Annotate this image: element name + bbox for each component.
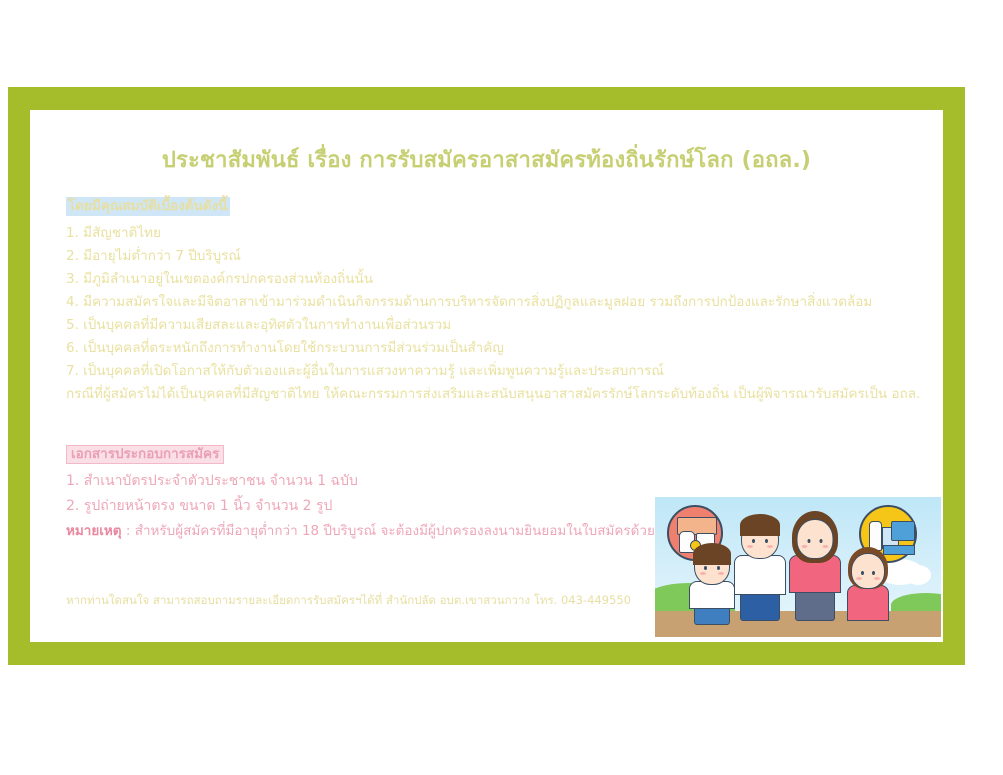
- head-shape: [797, 519, 834, 559]
- poster-green-frame: ประชาสัมพันธ์ เรื่อง การรับสมัครอาสาสมัค…: [8, 87, 965, 665]
- family-recycling-illustration: [655, 497, 941, 637]
- head-shape: [851, 553, 885, 589]
- eye-shape: [752, 539, 755, 543]
- note-label: หมายเหตุ: [66, 523, 122, 539]
- cheek-shape: [823, 545, 829, 548]
- eye-shape: [704, 566, 707, 570]
- cloud-icon: [905, 565, 931, 585]
- cheek-shape: [856, 577, 862, 580]
- documents-heading: เอกสารประกอบการสมัคร: [66, 445, 224, 464]
- hair-shape: [693, 543, 731, 565]
- eye-shape: [717, 566, 720, 570]
- page-title: ประชาสัมพันธ์ เรื่อง การรับสมัครอาสาสมัค…: [30, 142, 943, 177]
- qualifications-list: 1. มีสัญชาติไทย 2. มีอายุไม่ต่ำกว่า 7 ปี…: [66, 222, 923, 383]
- legs-shape: [795, 589, 835, 621]
- hair-shape: [740, 514, 780, 536]
- person-mother: [783, 507, 847, 619]
- legs-shape: [740, 591, 780, 621]
- list-item: 6. เป็นบุคคลที่ตระหนักถึงการทำงานโดยใช้ก…: [66, 337, 923, 360]
- list-item: 7. เป็นบุคคลที่เปิดโอกาสให้กับตัวเองและผ…: [66, 360, 923, 383]
- qualifications-heading: โดยมีคุณสมบัติเบื้องต้นดังนี้: [66, 197, 230, 216]
- cheek-shape: [874, 577, 880, 580]
- qualifications-section: โดยมีคุณสมบัติเบื้องต้นดังนี้ 1. มีสัญชา…: [66, 195, 923, 406]
- shirt-shape: [847, 585, 889, 621]
- poster-white-sheet: ประชาสัมพันธ์ เรื่อง การรับสมัครอาสาสมัค…: [30, 110, 943, 642]
- eye-shape: [872, 571, 875, 575]
- cheek-shape: [700, 572, 706, 575]
- list-item: 1. สำเนาบัตรประจำตัวประชาชน จำนวน 1 ฉบับ: [66, 469, 923, 494]
- cheek-shape: [718, 572, 724, 575]
- person-father: [729, 509, 791, 619]
- note-text: : สำหรับผู้สมัครที่มีอายุต่ำกว่า 18 ปีบร…: [122, 523, 655, 539]
- eye-shape: [765, 539, 768, 543]
- eye-shape: [808, 539, 811, 543]
- cheek-shape: [767, 545, 773, 548]
- list-item: 5. เป็นบุคคลที่มีความเสียสละและอุทิศตัวใ…: [66, 314, 923, 337]
- cheek-shape: [747, 545, 753, 548]
- list-item: 1. มีสัญชาติไทย: [66, 222, 923, 245]
- box-icon: [891, 521, 915, 541]
- poster-content: โดยมีคุณสมบัติเบื้องต้นดังนี้ 1. มีสัญชา…: [66, 195, 923, 544]
- cheek-shape: [802, 545, 808, 548]
- eye-shape: [820, 539, 823, 543]
- exception-paragraph: กรณีที่ผู้สมัครไม่ได้เป็นบุคคลที่มีสัญชา…: [66, 383, 923, 406]
- contact-line: หากท่านใดสนใจ สามารถสอบถามรายละเอียดการร…: [66, 592, 631, 610]
- person-girl: [841, 539, 895, 619]
- list-item: 2. มีอายุไม่ต่ำกว่า 7 ปีบริบูรณ์: [66, 245, 923, 268]
- eye-shape: [861, 571, 864, 575]
- list-item: 4. มีความสมัครใจและมีจิตอาสาเข้ามาร่วมดำ…: [66, 291, 923, 314]
- shirt-shape: [734, 555, 786, 595]
- list-item: 3. มีภูมิลำเนาอยู่ในเขตองค์กรปกครองส่วนท…: [66, 268, 923, 291]
